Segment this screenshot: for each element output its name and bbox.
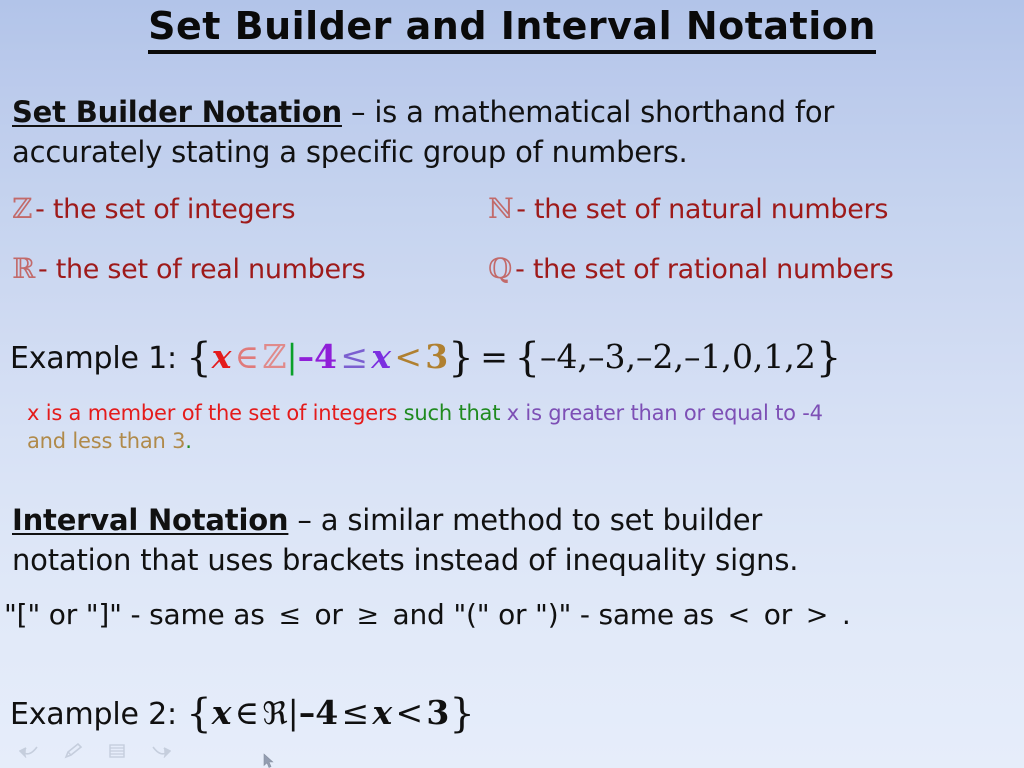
explanation-member-part: x is a member of the set of integers — [27, 401, 397, 425]
less-than-icon: < — [395, 693, 423, 732]
example-2-label: Example 2: — [10, 697, 177, 732]
example-2-open-brace: { — [186, 691, 211, 737]
greater-than-or-equal-icon: ≥ — [351, 600, 383, 631]
example-1-close-brace: } — [448, 335, 473, 381]
pen-icon[interactable] — [62, 742, 84, 760]
reals-symbol: ℝ — [12, 252, 38, 285]
example-1-expression: {x ∈ ℤ|–4 ≤ x < 3} = {–4,–3,–2,–1,0,1,2} — [186, 337, 841, 376]
definition-real-numbers: ℝ- the set of real numbers — [12, 252, 365, 285]
example-2-close-brace: } — [449, 691, 474, 737]
interval-notation-definition-paragraph: Interval Notation – a similar method to … — [12, 500, 1012, 580]
example-1-open-brace: { — [186, 335, 211, 381]
example-2-such-that-bar: | — [288, 693, 299, 732]
example-1-line: Example 1: {x ∈ ℤ|–4 ≤ x < 3} = {–4,–3,–… — [10, 332, 841, 378]
example-1-equals: = — [480, 337, 508, 376]
mouse-cursor — [263, 753, 275, 768]
greater-than-icon: > — [801, 600, 833, 631]
definition-rational-numbers-text: - the set of rational numbers — [515, 254, 893, 285]
example-1-set-symbol: ℤ — [262, 337, 286, 376]
example-2-lower-bound: –4 — [299, 693, 338, 732]
example-1-label: Example 1: — [10, 341, 177, 376]
page-title: Set Builder and Interval Notation — [148, 6, 876, 54]
definition-rational-numbers: ℚ- the set of rational numbers — [488, 252, 894, 285]
example-1-variable-2: x — [371, 337, 391, 376]
set-builder-dash: – — [342, 95, 374, 129]
set-builder-desc-line1: is a mathematical shorthand for — [374, 95, 834, 129]
example-1-result-open-brace: { — [515, 335, 540, 381]
interval-notation-desc-line1: a similar method to set builder — [321, 503, 762, 537]
previous-slide-icon[interactable] — [18, 742, 40, 760]
round-bracket-pair: "(" or ")" — [453, 598, 571, 631]
element-of-icon: ∈ — [235, 693, 259, 732]
example-2-set-symbol: ℜ — [262, 696, 287, 732]
less-than-or-equal-icon: ≤ — [342, 693, 370, 732]
set-builder-lead: Set Builder Notation — [12, 95, 342, 129]
example-1-lower-bound: –4 — [298, 337, 337, 376]
example-2-variable-2: x — [372, 693, 392, 732]
example-2-variable: x — [212, 693, 232, 732]
interval-notation-lead: Interval Notation — [12, 503, 288, 537]
definition-integers-text: - the set of integers — [35, 194, 295, 225]
example-2-line: Example 2: {x ∈ ℜ|–4 ≤ x < 3} — [10, 688, 475, 734]
definition-real-numbers-text: - the set of real numbers — [38, 254, 365, 285]
less-than-icon: < — [394, 337, 422, 376]
definition-natural-numbers: ℕ- the set of natural numbers — [488, 192, 888, 225]
bracket-or-2: or — [755, 598, 801, 631]
element-of-icon: ∈ — [235, 337, 259, 376]
rationals-symbol: ℚ — [488, 252, 515, 285]
explanation-such-that-part: such that — [397, 401, 507, 425]
next-slide-icon[interactable] — [150, 742, 172, 760]
set-builder-definition-paragraph: Set Builder Notation – is a mathematical… — [12, 92, 1002, 172]
definition-integers: ℤ- the set of integers — [12, 192, 295, 225]
explanation-lower-bound-part: x is greater than or equal to -4 — [507, 401, 823, 425]
square-bracket-dash: - same as — [122, 598, 274, 631]
square-bracket-pair: "[" or "]" — [4, 598, 122, 631]
explanation-period: . — [185, 429, 191, 453]
example-1-variable: x — [212, 337, 232, 376]
example-1-result-close-brace: } — [816, 335, 841, 381]
example-2-upper-bound: 3 — [426, 693, 449, 732]
bracket-equivalence-line: "[" or "]" - same as ≤ or ≥ and "(" or "… — [4, 598, 851, 631]
presentation-toolbar[interactable] — [18, 742, 172, 760]
explanation-upper-bound-part: and less than 3 — [27, 429, 185, 453]
example-1-result-set: –4,–3,–2,–1,0,1,2 — [540, 337, 816, 376]
title-block: Set Builder and Interval Notation — [0, 6, 1024, 54]
example-2-expression: {x ∈ ℜ|–4 ≤ x < 3} — [186, 693, 475, 732]
example-1-such-that-bar: | — [287, 337, 298, 376]
slide-canvas: Set Builder and Interval Notation Set Bu… — [0, 0, 1024, 768]
bracket-or-1: or — [306, 598, 352, 631]
definition-natural-numbers-text: - the set of natural numbers — [516, 194, 888, 225]
slide-menu-icon[interactable] — [106, 742, 128, 760]
interval-notation-desc-line2: notation that uses brackets instead of i… — [12, 543, 798, 577]
bracket-and: and — [384, 598, 453, 631]
natural-numbers-symbol: ℕ — [488, 192, 516, 225]
less-than-or-equal-icon: ≤ — [340, 337, 368, 376]
less-than-icon: < — [723, 600, 755, 631]
example-1-upper-bound: 3 — [425, 337, 448, 376]
round-bracket-dash: - same as — [571, 598, 723, 631]
example-1-explanation: x is a member of the set of integers suc… — [27, 400, 987, 455]
integers-symbol: ℤ — [12, 192, 35, 225]
bracket-period: . — [833, 598, 850, 631]
set-builder-desc-line2: accurately stating a specific group of n… — [12, 135, 688, 169]
less-than-or-equal-icon: ≤ — [273, 600, 305, 631]
interval-notation-dash: – — [288, 503, 320, 537]
